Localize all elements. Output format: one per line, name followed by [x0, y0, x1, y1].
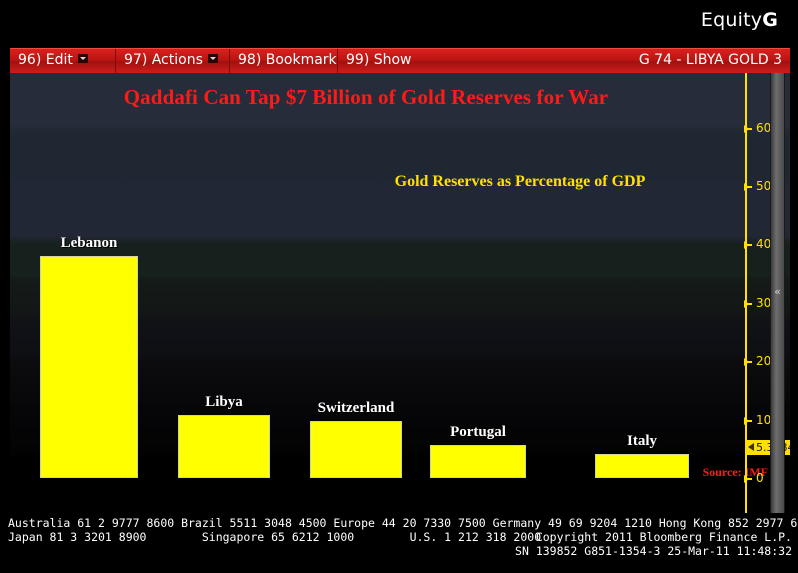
toolbar-item-actions-label: 97) Actions — [124, 52, 203, 68]
y-tick-mark — [745, 244, 752, 246]
footer-line-1: Australia 61 2 9777 8600 Brazil 5511 304… — [8, 516, 794, 530]
toolbar-item-bookmarks-label: 98) Bookmarks — [238, 52, 338, 68]
y-tick-mark — [745, 361, 752, 363]
y-tick-label: 50 — [756, 179, 771, 193]
toolbar-item-edit-label: 96) Edit — [18, 52, 73, 68]
footer-copyright: Copyright 2011 Bloomberg Finance L.P. — [536, 530, 792, 544]
y-tick-label: 30 — [756, 296, 771, 310]
toolbar-item-actions[interactable]: 97) Actions — [116, 49, 230, 73]
y-tick-label: 20 — [756, 354, 771, 368]
y-tick-label: 40 — [756, 237, 771, 251]
bar-switzerland[interactable] — [310, 421, 402, 478]
chevron-left-double-icon[interactable]: « — [771, 285, 784, 298]
y-tick-label: 60 — [756, 121, 771, 135]
panel-collapse-rail[interactable]: « — [770, 73, 785, 513]
y-tick-mark — [745, 186, 752, 188]
chart-panel: Qaddafi Can Tap $7 Billion of Gold Reser… — [10, 73, 790, 513]
bloomberg-brand-logo: EquityG — [701, 9, 778, 31]
bar-label-lebanon: Lebanon — [40, 235, 138, 252]
app-header: EquityG — [0, 0, 798, 46]
bar-portugal[interactable] — [430, 445, 526, 478]
bar-label-libya: Libya — [178, 394, 270, 411]
toolbar-item-show-label: 99) Show — [346, 52, 412, 68]
y-tick-mark — [745, 128, 752, 130]
chevron-down-icon[interactable] — [208, 54, 218, 63]
footer-contact-bar: Australia 61 2 9777 8600 Brazil 5511 304… — [0, 513, 798, 573]
y-tick-mark — [745, 303, 752, 305]
brand-suffix: G — [762, 9, 778, 31]
bar-label-switzerland: Switzerland — [305, 400, 407, 417]
bar-label-portugal: Portugal — [430, 424, 526, 441]
command-toolbar: 96) Edit 97) Actions 98) Bookmarks 99) S… — [10, 48, 790, 74]
toolbar-item-show[interactable]: 99) Show — [338, 49, 428, 73]
bar-italy[interactable] — [595, 454, 689, 478]
y-tick-label: 0 — [756, 471, 764, 485]
toolbar-item-edit[interactable]: 96) Edit — [10, 49, 116, 73]
footer-serial-timestamp: SN 139852 G851-1354-3 25-Mar-11 11:48:32 — [515, 544, 792, 558]
security-title: G 74 - LIBYA GOLD 3 — [639, 49, 782, 73]
plot-area: Lebanon Libya Switzerland Portugal Italy — [10, 73, 745, 513]
chevron-down-icon[interactable] — [78, 54, 88, 63]
bar-libya[interactable] — [178, 415, 270, 478]
toolbar-item-bookmarks[interactable]: 98) Bookmarks — [230, 49, 338, 73]
brand-prefix: Equity — [701, 9, 762, 31]
bar-lebanon[interactable] — [40, 256, 138, 478]
y-tick-mark — [745, 478, 752, 480]
y-tick-mark — [745, 420, 752, 422]
y-tick-label: 10 — [756, 413, 771, 427]
terminal-screen: EquityG 96) Edit 97) Actions 98) Bookmar… — [0, 0, 798, 573]
bar-label-italy: Italy — [595, 433, 689, 450]
